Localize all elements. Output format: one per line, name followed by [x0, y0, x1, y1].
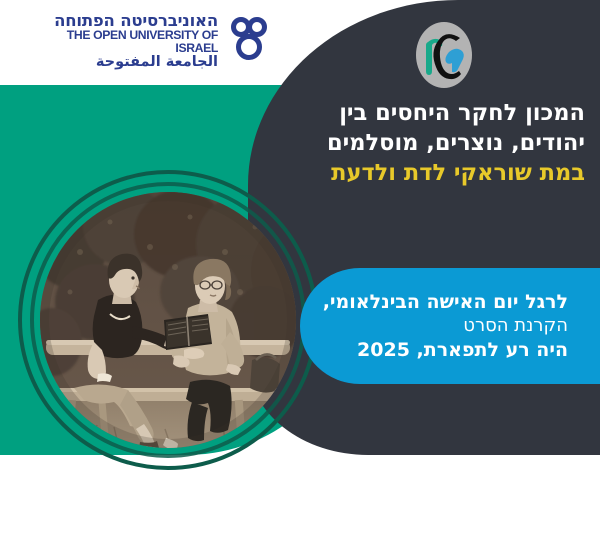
open-university-logo-text: האוניברסיטה הפתוחה THE OPEN UNIVERSITY O…	[22, 12, 218, 70]
two-women-reading-on-bench-photo	[40, 192, 296, 448]
institute-title: המכון לחקר היחסים בין יהודים, נוצרים, מו…	[300, 98, 585, 188]
institute-emblem-icon	[408, 16, 480, 94]
event-line-1: לרגל יום האישה הבינלאומי,	[300, 290, 568, 314]
event-banner-text: לרגל יום האישה הבינלאומי, הקרנת הסרט היה…	[300, 268, 582, 384]
photo-circle-group	[18, 170, 318, 470]
institute-title-line-3: במת שוראקי לדת ולדעת	[314, 158, 585, 188]
institute-title-line-1: המכון לחקר היחסים בין	[314, 98, 585, 128]
logo-english-name: THE OPEN UNIVERSITY OF ISRAEL	[22, 29, 218, 55]
logo-hebrew-name: האוניברסיטה הפתוחה	[22, 12, 218, 29]
event-line-3: היה רע לתפארת, 2025	[300, 338, 568, 362]
poster-canvas: האוניברסיטה הפתוחה THE OPEN UNIVERSITY O…	[0, 0, 600, 538]
trefoil-logo-icon	[226, 16, 272, 66]
logo-arabic-name: الجامعة المفتوحة	[22, 55, 218, 70]
open-university-logo: האוניברסיטה הפתוחה THE OPEN UNIVERSITY O…	[22, 10, 272, 72]
event-line-2: הקרנת הסרט	[300, 314, 568, 337]
institute-title-line-2: יהודים, נוצרים, מוסלמים	[314, 128, 585, 158]
